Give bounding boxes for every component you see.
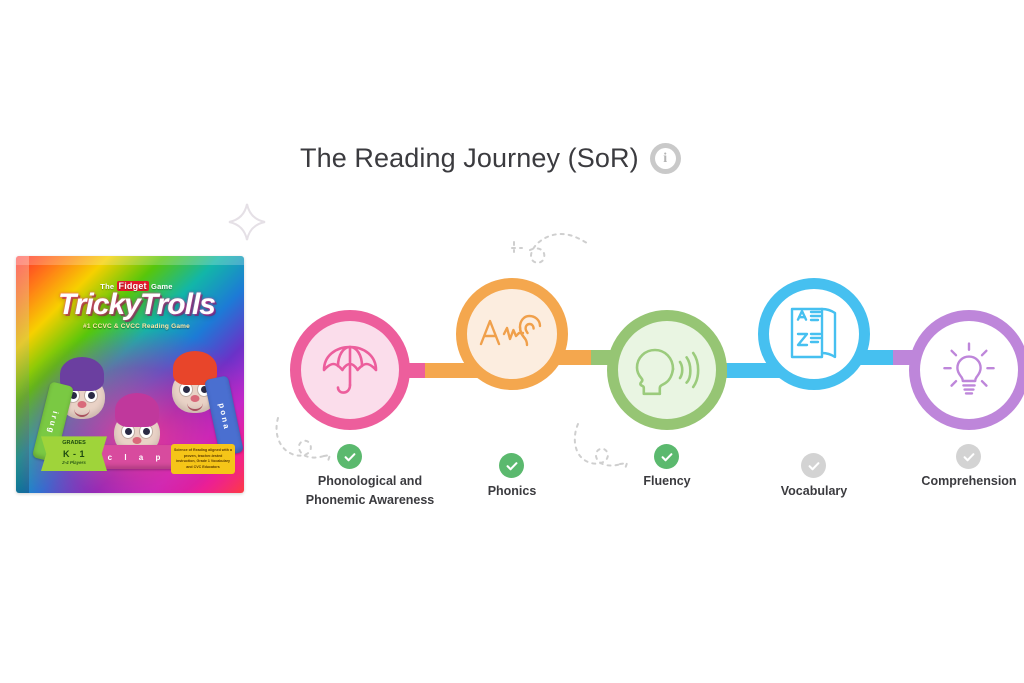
status-check-incomplete [956, 444, 981, 469]
page-title-row: The Reading Journey (SoR) i [300, 143, 681, 174]
check-icon [343, 450, 357, 464]
troll-hair [115, 393, 159, 427]
box-top-edge [16, 256, 244, 265]
reading-journey-diagram: Phonological and Phonemic Awareness P [270, 258, 1024, 528]
troll-nose [191, 395, 200, 402]
status-check-complete [499, 453, 524, 478]
letter-tile-letters: p o n a [217, 402, 231, 429]
status-check-complete [654, 444, 679, 469]
letter-tile: c l a p [93, 445, 181, 469]
troll-nose [78, 401, 87, 408]
science-of-reading-badge: Science of Reading aligned with a proven… [171, 444, 235, 474]
box-tagline: #1 CCVC & CVCC Reading Game [29, 323, 244, 330]
umbrella-icon [318, 338, 382, 402]
check-icon [660, 450, 674, 464]
info-icon[interactable]: i [650, 143, 681, 174]
status-check-complete [337, 444, 362, 469]
status-check-incomplete [801, 453, 826, 478]
product-box-image[interactable]: The Fidget Game TrickyTrolls #1 CCVC & C… [16, 256, 244, 493]
grades-label: GRADES [62, 440, 86, 446]
node-circle[interactable] [290, 310, 410, 430]
check-icon [807, 459, 821, 473]
grades-value: K - 1 [43, 448, 105, 460]
box-front-face: The Fidget Game TrickyTrolls #1 CCVC & C… [29, 265, 244, 493]
lightbulb-icon [938, 339, 1000, 401]
troll-mouth [74, 408, 90, 417]
letter-tile-letters: c l a p [108, 453, 166, 462]
troll-mouth [187, 402, 203, 411]
open-book-az-icon [784, 303, 844, 365]
node-circle[interactable] [909, 310, 1024, 430]
node-circle[interactable] [607, 310, 727, 430]
info-icon-inner: i [655, 148, 676, 169]
page-title: The Reading Journey (SoR) [300, 145, 639, 172]
info-icon-glyph: i [663, 152, 667, 166]
node-label-comprehension: Comprehension [871, 472, 1024, 491]
node-circle[interactable] [758, 278, 870, 390]
reading-journey-page: The Reading Journey (SoR) i The Fidget G… [0, 0, 1024, 683]
decorative-swirl-arrow [506, 218, 616, 280]
troll-nose [132, 437, 141, 444]
check-icon [962, 450, 976, 464]
box-logo-title: TrickyTrolls [29, 290, 244, 320]
letter-sound-ear-icon [477, 312, 547, 356]
node-circle[interactable] [456, 278, 568, 390]
grades-badge: GRADES K - 1 2-4 Players [41, 436, 107, 471]
decorative-sparkle-icon [225, 200, 273, 252]
check-icon [505, 459, 519, 473]
players-count: 2-4 Players [43, 460, 105, 466]
speaking-head-icon [632, 342, 702, 398]
letter-tile-letters: i r u g [46, 410, 60, 433]
